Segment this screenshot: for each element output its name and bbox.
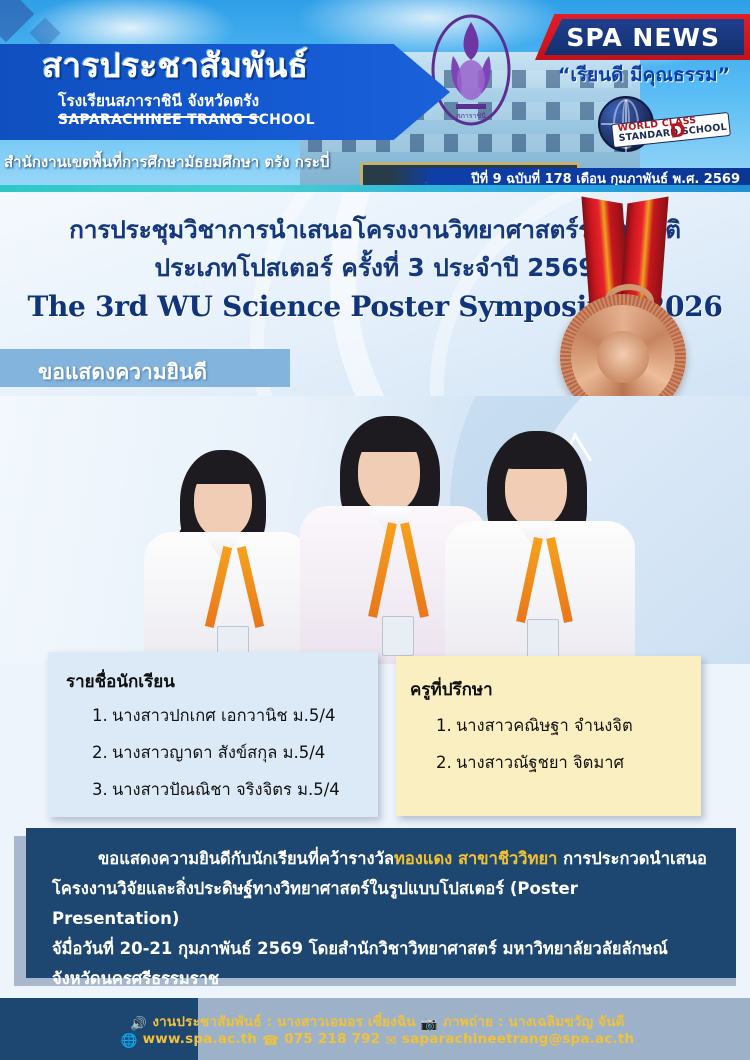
footer-contact-line: 🌐www.spa.ac.th☎075 218 792✉saparachineet… <box>0 1031 750 1049</box>
school-name-en: SAPARACHINEE TRANG SCHOOL <box>58 112 315 128</box>
list-item-number: 2. <box>92 743 112 762</box>
students-photo <box>0 396 750 664</box>
summary-line-1-a: ขอแสดงความยินดีกับนักเรียนที่คว้ารางวัล <box>98 849 394 868</box>
students-list-heading: รายชื่อนักเรียน <box>48 652 378 695</box>
list-item-number: 1. <box>436 716 456 735</box>
list-item-label: นางสาวปกเกศ เอกวานิช ม.5/4 <box>112 706 335 725</box>
summary-line-2: โครงงานวิจัยและสิ่งประดิษฐ์ทางวิทยาศาสตร… <box>52 874 710 934</box>
list-item-label: นางสาวคณิษฐา จำนงจิต <box>456 716 633 735</box>
footer-phone: 075 218 792 <box>284 1031 380 1047</box>
teachers-list: 1.นางสาวคณิษฐา จำนงจิต 2.นางสาวณัฐชยา จิ… <box>396 713 701 776</box>
poster-footer: 🔊งานประชาสัมพันธ์ : นางสาวเอมอร เซี่ยงฉิ… <box>0 998 750 1060</box>
student-photo-right <box>425 409 655 664</box>
summary-line-1-b: การประกวดนำเสนอ <box>557 849 706 868</box>
teachers-list-heading: ครูที่ปรึกษา <box>396 656 701 703</box>
list-item: 2.นางสาวณัฐชยา จิตมาศ <box>436 750 701 776</box>
list-item: 3.นางสาวปัณณิชา จริงจิตร ม.5/4 <box>92 777 378 803</box>
students-list-box: รายชื่อนักเรียน 1.นางสาวปกเกศ เอกวานิช ม… <box>48 652 378 817</box>
footer-credits-line: 🔊งานประชาสัมพันธ์ : นางสาวเอมอร เซี่ยงฉิ… <box>0 1010 750 1032</box>
school-emblem-icon: สภาราชินี <box>428 8 514 128</box>
footer-website[interactable]: www.spa.ac.th <box>143 1031 258 1047</box>
masthead-title: สารประชาสัมพันธ์ <box>42 48 382 84</box>
speaker-icon: 🔊 <box>130 1016 147 1032</box>
list-item-label: นางสาวญาดา สังข์สกุล ม.5/4 <box>112 743 325 762</box>
list-item-label: นางสาวปัณณิชา จริงจิตร ม.5/4 <box>112 780 340 799</box>
list-item-number: 2. <box>436 753 456 772</box>
footer-email[interactable]: saparachineetrang@spa.ac.th <box>402 1031 635 1047</box>
list-item-number: 3. <box>92 780 112 799</box>
globe-icon-footer: 🌐 <box>121 1033 138 1049</box>
list-item-number: 1. <box>92 706 112 725</box>
education-office-label: สำนักงานเขตพื้นที่การศึกษามัธยมศึกษา ตรั… <box>4 150 329 174</box>
footer-photo-credit: ภาพถ่าย : นางเฉลิมขวัญ จันดี <box>443 1014 625 1030</box>
summary-panel: ขอแสดงความยินดีกับนักเรียนที่คว้ารางวัลท… <box>26 828 736 978</box>
students-list: 1.นางสาวปกเกศ เอกวานิช ม.5/4 2.นางสาวญาด… <box>48 703 378 803</box>
summary-award-highlight: ทองแดง สาขาชีววิทยา <box>394 849 557 868</box>
list-item-label: นางสาวณัฐชยา จิตมาศ <box>456 753 624 772</box>
mail-icon: ✉ <box>385 1033 397 1049</box>
summary-line-3: จัมื่อวันที่ 20-21 กุมภาพันธ์ 2569 โดยสำ… <box>52 934 710 964</box>
congratulations-label: ขอแสดงความยินดี <box>0 349 290 389</box>
wcss-letter-d: D <box>669 119 687 143</box>
summary-line-4: จังหวัดนครศรีธรรมราช <box>52 964 710 994</box>
news-poster: โรงเรียนสภาราชินี จังหวัดตรัง SAPARACHIN… <box>0 0 750 1060</box>
poster-header: โรงเรียนสภาราชินี จังหวัดตรัง SAPARACHIN… <box>0 0 750 192</box>
list-item: 2.นางสาวญาดา สังข์สกุล ม.5/4 <box>92 740 378 766</box>
list-item: 1.นางสาวปกเกศ เอกวานิช ม.5/4 <box>92 703 378 729</box>
list-item: 1.นางสาวคณิษฐา จำนงจิต <box>436 713 701 739</box>
phone-icon: ☎ <box>262 1033 279 1049</box>
spa-news-label: SPA NEWS <box>566 23 720 52</box>
bronze-medal-icon <box>548 202 698 417</box>
footer-pr-credit: งานประชาสัมพันธ์ : นางสาวเอมอร เซี่ยงฉิน <box>152 1014 416 1030</box>
summary-line-1: ขอแสดงความยินดีกับนักเรียนที่คว้ารางวัลท… <box>52 844 710 874</box>
svg-text:สภาราชินี: สภาราชินี <box>456 112 486 120</box>
teachers-list-box: ครูที่ปรึกษา 1.นางสาวคณิษฐา จำนงจิต 2.นา… <box>396 656 701 816</box>
camera-icon: 📷 <box>421 1016 438 1032</box>
congratulations-badge: ขอแสดงความยินดี <box>0 349 290 387</box>
world-class-standard-school-logo: WORLD CLASS STANDARD SCHOOL D <box>598 96 728 158</box>
school-motto: “เรียนดี มีคุณธรรม” <box>558 60 730 90</box>
